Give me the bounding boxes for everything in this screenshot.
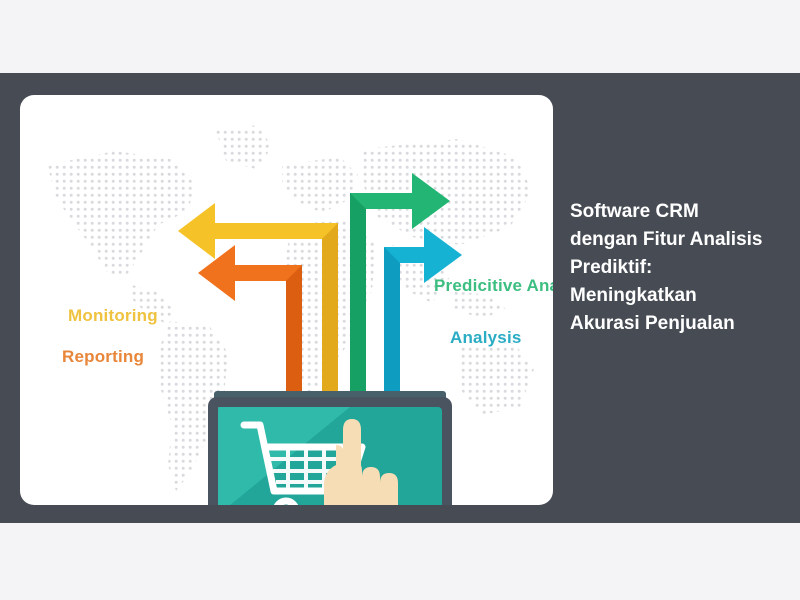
- label-analysis: Analysis: [450, 328, 522, 348]
- illustration-card: Monitoring Reporting Predicitive Ana Ana…: [20, 95, 553, 505]
- label-reporting: Reporting: [62, 347, 144, 367]
- label-monitoring: Monitoring: [68, 306, 158, 326]
- monitor-illustration: [200, 345, 460, 505]
- page-root: Monitoring Reporting Predicitive Ana Ana…: [0, 0, 800, 600]
- page-title: Software CRM dengan Fitur Analisis Predi…: [570, 198, 770, 338]
- label-predictive-analysis: Predicitive Ana: [434, 276, 553, 296]
